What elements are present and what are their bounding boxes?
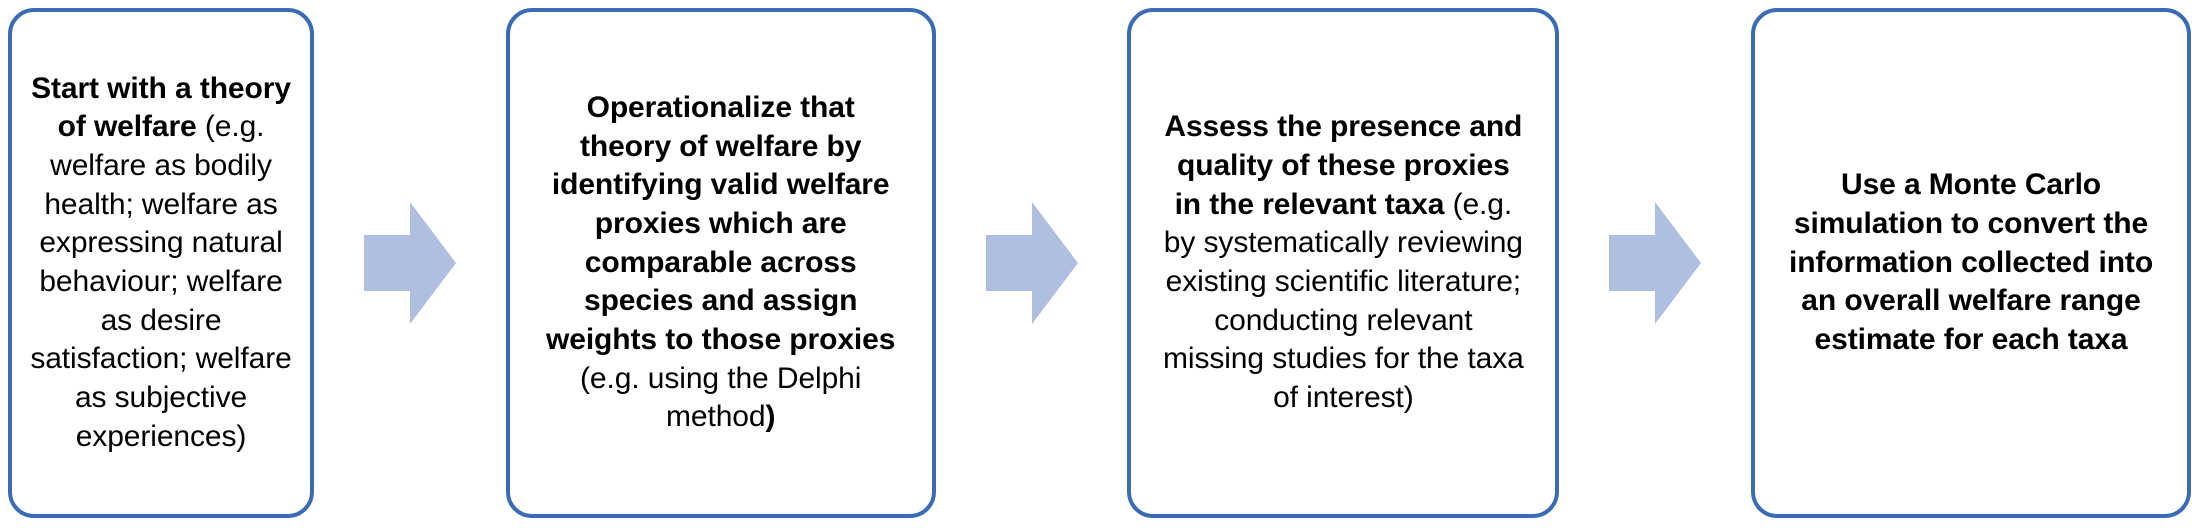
process-step-2[interactable]: Operationalize that theory of welfare by…	[506, 8, 936, 518]
process-connector-3	[1559, 8, 1751, 518]
process-step-1-detail: (e.g. welfare as bodily health; welfare …	[30, 110, 291, 453]
process-step-2-detail: (e.g. using the Delphi method	[580, 362, 861, 434]
process-step-4-bold-lead: Use a Monte Carlo simulation to convert …	[1789, 168, 2153, 356]
process-step-2-bold-tail: )	[765, 400, 775, 433]
process-step-1-text: Start with a theory of welfare (e.g. wel…	[12, 70, 310, 457]
process-flow-diagram: Start with a theory of welfare (e.g. wel…	[0, 0, 2197, 528]
process-step-1[interactable]: Start with a theory of welfare (e.g. wel…	[8, 8, 314, 518]
process-flow-row: Start with a theory of welfare (e.g. wel…	[0, 0, 2197, 528]
right-arrow-icon	[1609, 202, 1701, 324]
process-step-3-detail: (e.g. by systematically reviewing existi…	[1163, 188, 1524, 414]
process-connector-2	[936, 8, 1128, 518]
right-arrow-icon	[364, 202, 456, 324]
process-step-3[interactable]: Assess the presence and quality of these…	[1127, 8, 1559, 518]
process-step-2-bold-lead: Operationalize that theory of welfare by…	[546, 91, 895, 356]
process-step-4-text: Use a Monte Carlo simulation to convert …	[1755, 166, 2187, 359]
process-step-3-text: Assess the presence and quality of these…	[1131, 108, 1555, 418]
process-step-4[interactable]: Use a Monte Carlo simulation to convert …	[1751, 8, 2191, 518]
process-connector-1	[314, 8, 506, 518]
process-step-2-text: Operationalize that theory of welfare by…	[510, 89, 932, 437]
right-arrow-icon	[986, 202, 1078, 324]
